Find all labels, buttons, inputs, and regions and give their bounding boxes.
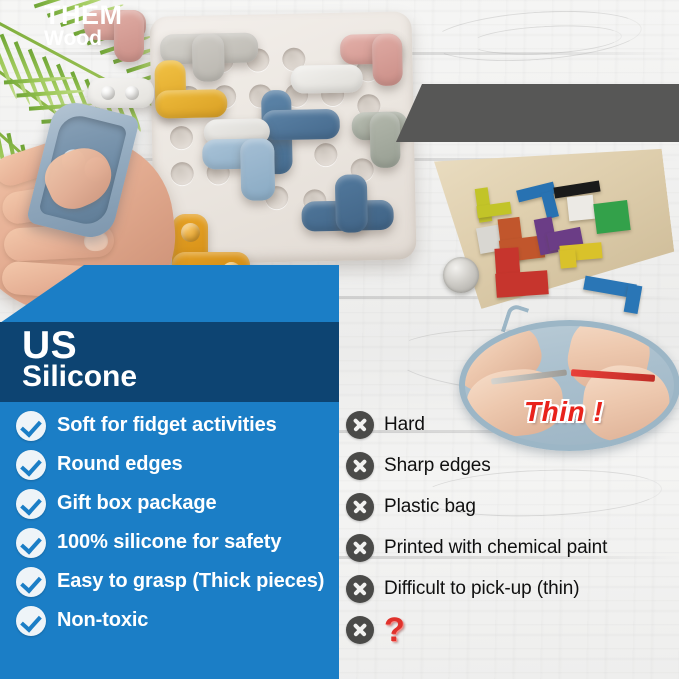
pro-label: Non-toxic — [57, 609, 148, 632]
check-circle-icon — [16, 489, 46, 519]
them-subtitle: Wood — [44, 28, 102, 49]
check-circle-icon — [16, 411, 46, 441]
pro-label: Round edges — [57, 453, 183, 476]
x-circle-icon — [346, 493, 374, 521]
check-circle-icon — [16, 450, 46, 480]
coin-for-scale — [443, 257, 479, 293]
con-label: Plastic bag — [384, 496, 476, 518]
x-circle-icon — [346, 411, 374, 439]
pro-item: Easy to grasp (Thick pieces) — [16, 562, 341, 601]
con-label: Hard — [384, 414, 425, 436]
infographic-canvas: THEM Wood Thin ! US Silicone Soft for fi… — [0, 0, 679, 679]
wood-piece — [559, 249, 577, 268]
wood-piece — [495, 270, 549, 298]
us-subtitle: Silicone — [22, 362, 137, 392]
them-title: THEM — [44, 2, 123, 29]
con-label: Difficult to pick-up (thin) — [384, 578, 579, 600]
pro-item: 100% silicone for safety — [16, 523, 341, 562]
pro-item: Non-toxic — [16, 601, 341, 640]
question-mark-icon: ? — [384, 613, 405, 647]
con-item: Plastic bag — [346, 486, 676, 527]
check-circle-icon — [16, 528, 46, 558]
cons-list: Hard Sharp edges Plastic bag Printed wit… — [346, 404, 676, 650]
pro-item: Soft for fidget activities — [16, 406, 341, 445]
con-label: Printed with chemical paint — [384, 537, 607, 559]
check-circle-icon — [16, 567, 46, 597]
wood-piece — [567, 195, 595, 222]
pro-item: Round edges — [16, 445, 341, 484]
x-circle-icon — [346, 452, 374, 480]
pros-list: Soft for fidget activities Round edges G… — [16, 406, 341, 640]
check-circle-icon — [16, 606, 46, 636]
x-circle-icon — [346, 616, 374, 644]
x-circle-icon — [346, 575, 374, 603]
con-label: Sharp edges — [384, 455, 491, 477]
con-item-unknown: ? — [346, 609, 676, 650]
pro-label: 100% silicone for safety — [57, 531, 281, 554]
silicone-loose-piece — [88, 78, 154, 108]
wood-piece — [593, 200, 630, 234]
pro-label: Soft for fidget activities — [57, 414, 277, 437]
them-banner — [396, 84, 679, 142]
con-item: Hard — [346, 404, 676, 445]
pro-label: Gift box package — [57, 492, 217, 515]
x-circle-icon — [346, 534, 374, 562]
pro-label: Easy to grasp (Thick pieces) — [57, 570, 324, 593]
pro-item: Gift box package — [16, 484, 341, 523]
con-item: Sharp edges — [346, 445, 676, 486]
con-item: Printed with chemical paint — [346, 527, 676, 568]
con-item: Difficult to pick-up (thin) — [346, 568, 676, 609]
